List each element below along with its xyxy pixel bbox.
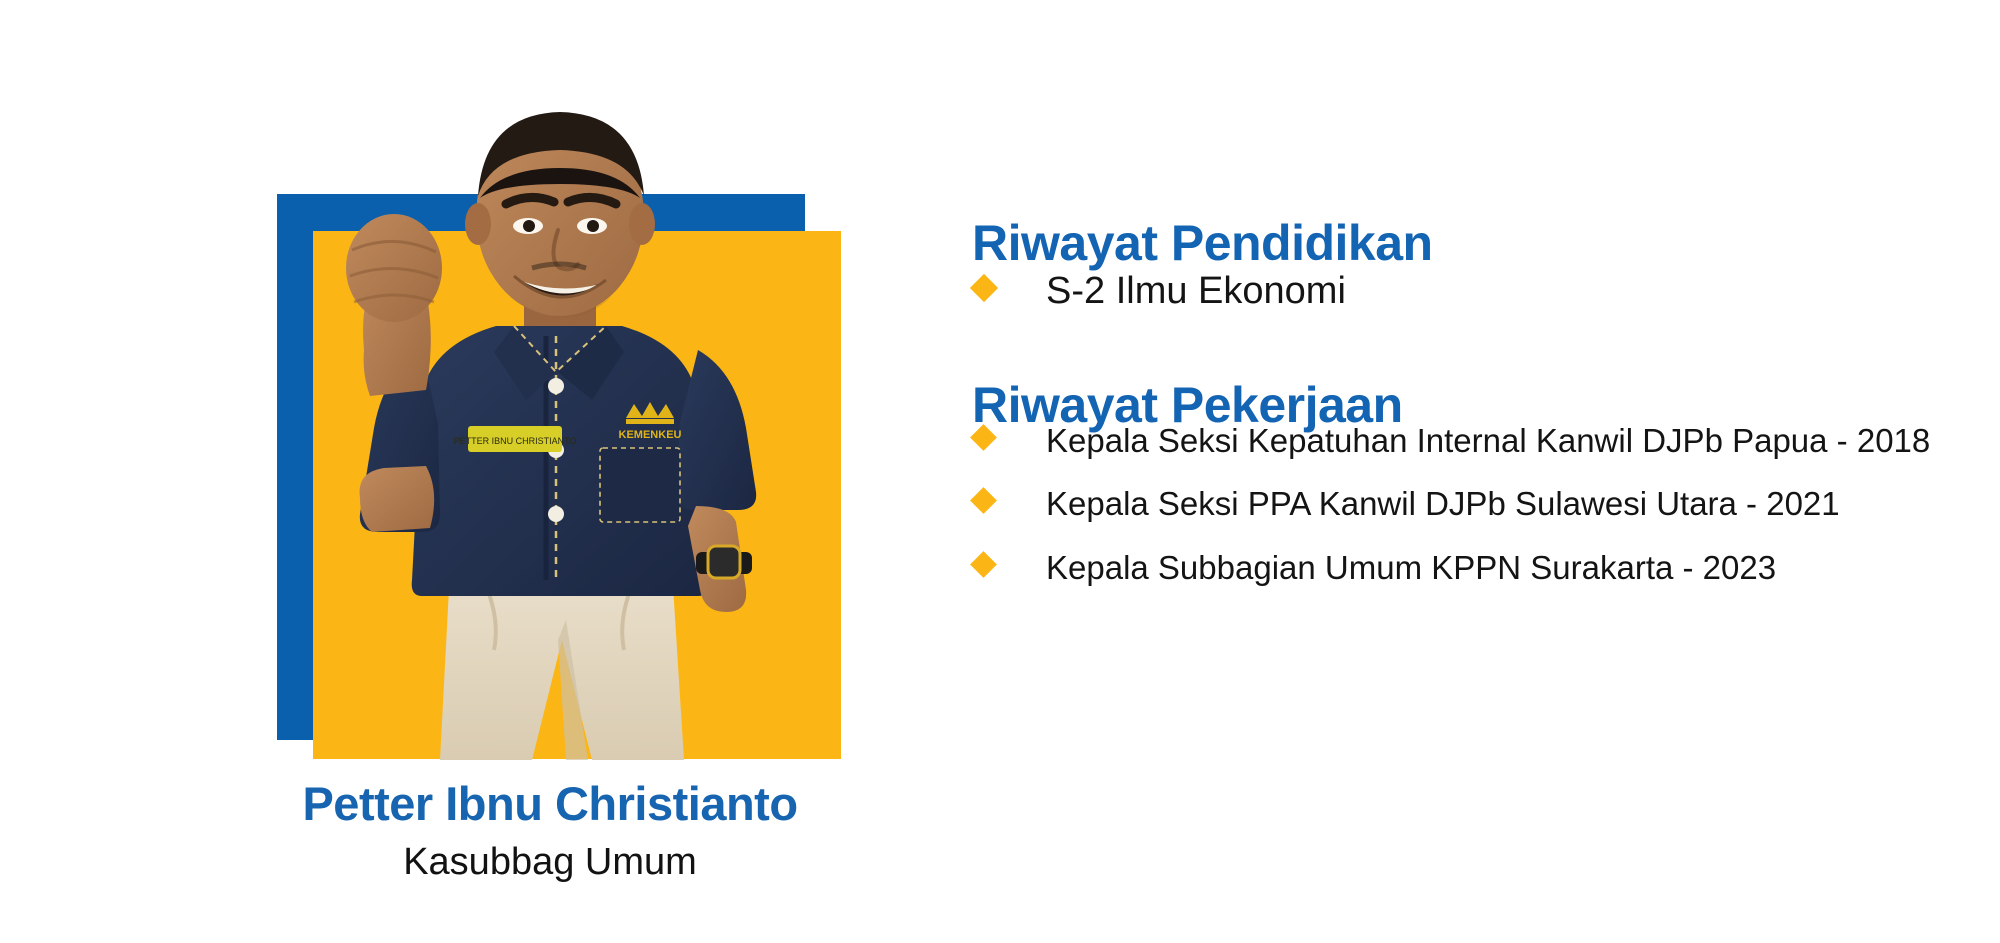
list-item-label: S-2 Ilmu Ekonomi — [1046, 270, 1346, 312]
list-item-label: Kepala Subbagian Umum KPPN Surakarta - 2… — [1046, 549, 1776, 586]
diamond-bullet-icon — [970, 487, 997, 514]
list-item: Kepala Subbagian Umum KPPN Surakarta - 2… — [966, 547, 1986, 588]
list-item: S-2 Ilmu Ekonomi — [966, 268, 1986, 316]
profile-role: Kasubbag Umum — [0, 842, 1100, 884]
list-item: Kepala Seksi Kepatuhan Internal Kanwil D… — [966, 420, 1986, 461]
work-list: Kepala Seksi Kepatuhan Internal Kanwil D… — [966, 420, 1986, 610]
profile-card: KEMENKEU PETTER IBNU CHRISTIANTO — [0, 0, 2000, 943]
profile-photo: KEMENKEU PETTER IBNU CHRISTIANTO — [300, 100, 820, 760]
info-column: Riwayat Pendidikan S-2 Ilmu Ekonomi Riwa… — [966, 0, 1996, 943]
diamond-bullet-icon — [970, 551, 997, 578]
diamond-bullet-icon — [970, 424, 997, 451]
svg-text:KEMENKEU: KEMENKEU — [619, 429, 682, 441]
list-item: Kepala Seksi PPA Kanwil DJPb Sulawesi Ut… — [966, 483, 1986, 524]
list-item-label: Kepala Seksi Kepatuhan Internal Kanwil D… — [1046, 422, 1930, 459]
profile-name: Petter Ibnu Christianto — [0, 778, 1100, 830]
svg-text:PETTER IBNU CHRISTIANTO: PETTER IBNU CHRISTIANTO — [454, 436, 577, 446]
list-item-label: Kepala Seksi PPA Kanwil DJPb Sulawesi Ut… — [1046, 485, 1840, 522]
education-list: S-2 Ilmu Ekonomi — [966, 268, 1986, 326]
section-heading-education: Riwayat Pendidikan — [972, 218, 1433, 268]
photo-column: KEMENKEU PETTER IBNU CHRISTIANTO — [0, 0, 880, 943]
diamond-bullet-icon — [970, 274, 998, 302]
